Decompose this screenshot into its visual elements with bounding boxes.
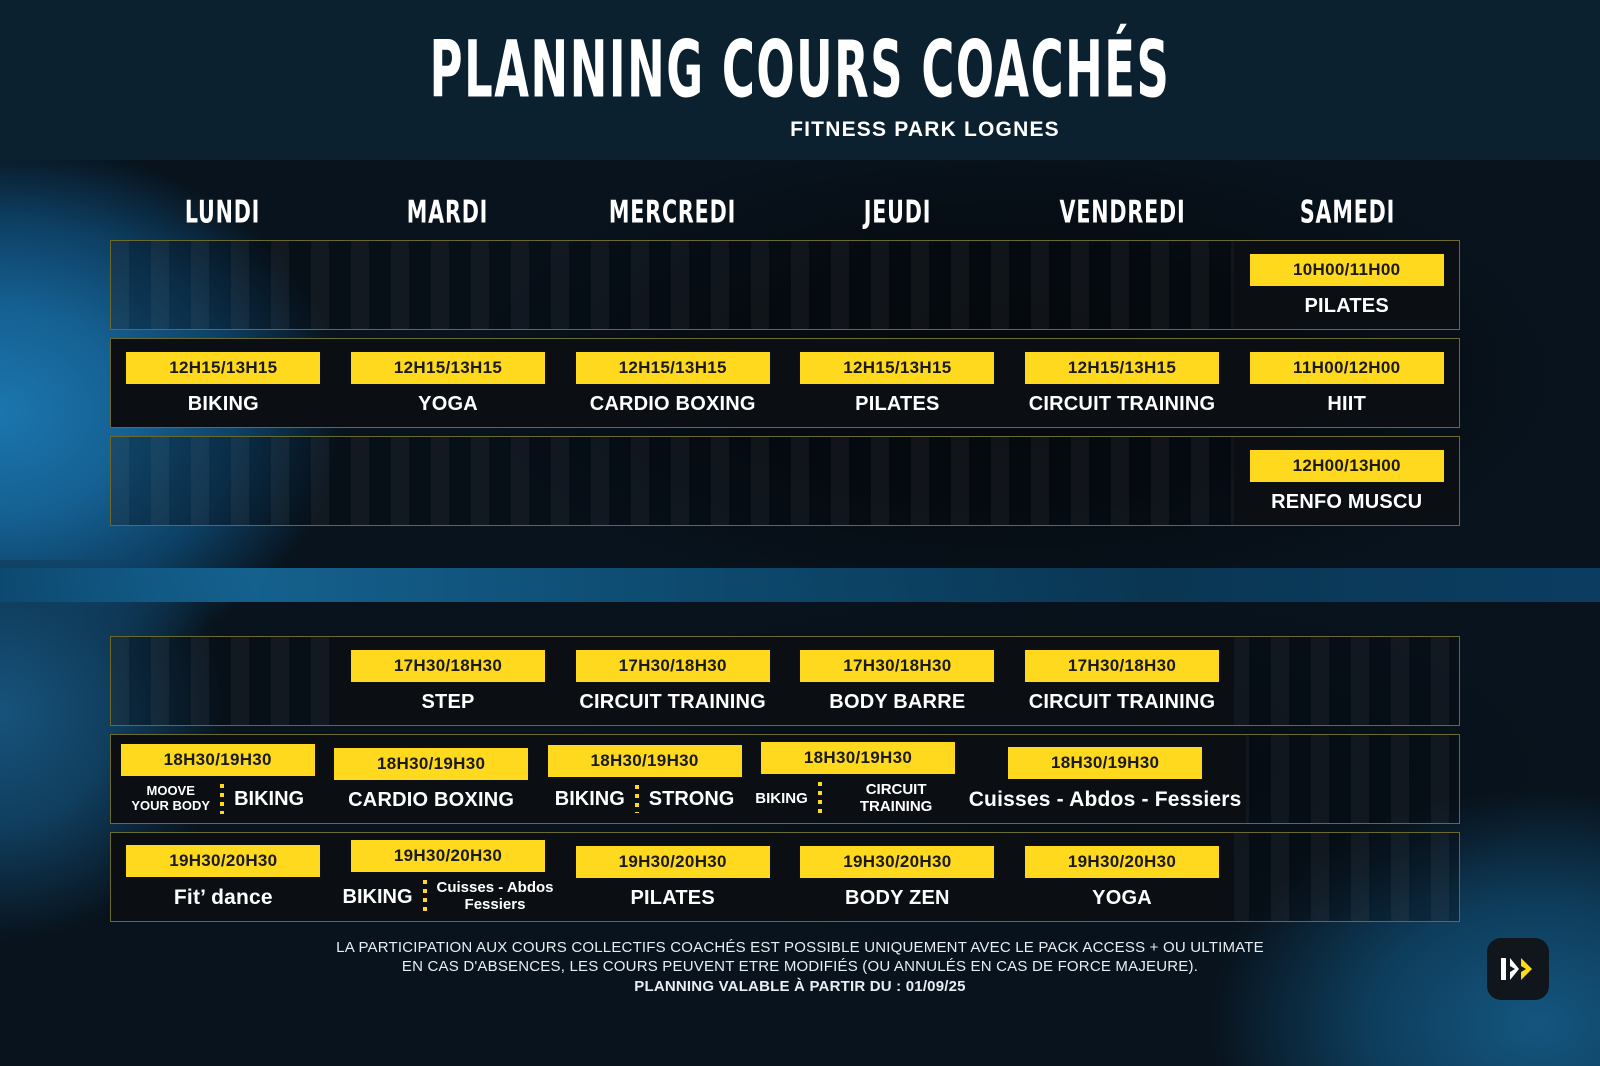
class-name: BODY BARRE: [829, 692, 965, 713]
dotted-divider: [818, 782, 822, 816]
class-name: CARDIO BOXING: [590, 394, 756, 415]
class-name: CIRCUIT TRAINING: [1029, 394, 1216, 415]
day-header-jeudi: JEUDI: [805, 193, 990, 240]
class-name: HIIT: [1327, 394, 1366, 415]
dotted-divider: [635, 785, 639, 813]
class-name: STEP: [421, 692, 474, 713]
schedule-cell-class[interactable]: 12H15/13H15PILATES: [785, 339, 1010, 427]
schedule-grid-evening: 17H30/18H30STEP17H30/18H30CIRCUIT TRAINI…: [110, 636, 1460, 922]
class-time-badge: 18H30/19H30: [548, 745, 742, 777]
schedule-cell-class[interactable]: 17H30/18H30CIRCUIT TRAINING: [1010, 637, 1235, 725]
class-name: RENFO MUSCU: [1271, 492, 1422, 513]
day-header-row: LUNDIMARDIMERCREDIJEUDIVENDREDISAMEDI: [110, 196, 1460, 238]
schedule-cell-class[interactable]: 17H30/18H30STEP: [336, 637, 561, 725]
schedule-cell-class[interactable]: 18H30/19H30Cuisses - Abdos - Fessiers: [965, 735, 1246, 823]
class-name: PILATES: [1305, 296, 1389, 317]
fitness-park-logo: [1487, 938, 1549, 1000]
class-name-left: BIKING: [343, 886, 413, 908]
class-time-badge: 18H30/19H30: [761, 742, 955, 774]
schedule-cell-empty: [1246, 735, 1459, 823]
schedule-cell-empty: [785, 437, 1010, 525]
schedule-cell-empty: [560, 241, 785, 329]
schedule-grid-morning: 10H00/11H00PILATES12H15/13H15BIKING12H15…: [110, 240, 1460, 526]
class-time-badge: 12H00/13H00: [1250, 450, 1444, 482]
class-name: BIKING: [188, 394, 259, 415]
day-header-lundi: LUNDI: [130, 193, 315, 240]
schedule-cell-class[interactable]: 19H30/20H30YOGA: [1010, 833, 1235, 921]
schedule-row: 18H30/19H30MOOVEYOUR BODYBIKING18H30/19H…: [110, 734, 1460, 824]
class-time-badge: 12H15/13H15: [1025, 352, 1219, 384]
class-name: CARDIO BOXING: [348, 790, 514, 811]
schedule-cell-empty: [1234, 833, 1459, 921]
schedule-cell-empty: [111, 437, 336, 525]
schedule-cell-empty: [560, 437, 785, 525]
dotted-divider: [220, 784, 224, 813]
schedule-cell-class[interactable]: 17H30/18H30BODY BARRE: [785, 637, 1010, 725]
class-time-badge: 12H15/13H15: [126, 352, 320, 384]
class-time-badge: 18H30/19H30: [334, 748, 528, 780]
schedule-cell-class[interactable]: 18H30/19H30BIKINGSTRONG: [538, 735, 751, 823]
class-name: CIRCUIT TRAINING: [579, 692, 766, 713]
schedule-cell-class[interactable]: 11H00/12H00HIIT: [1234, 339, 1459, 427]
class-name-left: MOOVEYOUR BODY: [131, 784, 210, 813]
schedule-cell-class[interactable]: 12H15/13H15YOGA: [336, 339, 561, 427]
schedule-cell-empty: [785, 241, 1010, 329]
class-time-badge: 11H00/12H00: [1250, 352, 1444, 384]
schedule-cell-class[interactable]: 19H30/20H30Fit’ dance: [111, 833, 336, 921]
dotted-divider: [423, 880, 427, 914]
schedule-cell-class[interactable]: 18H30/19H30MOOVEYOUR BODYBIKING: [111, 735, 324, 823]
schedule-cell-empty: [336, 437, 561, 525]
class-name-right: Cuisses - AbdosFessiers: [437, 880, 554, 914]
page-header: PLANNING COURS COACHÉS FITNESS PARK LOGN…: [0, 0, 1600, 160]
class-split-names: BIKINGCuisses - AbdosFessiers: [340, 880, 557, 914]
class-time-badge: 19H30/20H30: [800, 846, 994, 878]
schedule-cell-empty: [336, 241, 561, 329]
class-name: CIRCUIT TRAINING: [1029, 692, 1216, 713]
footer-line-2: EN CAS D'ABSENCES, LES COURS PEUVENT ETR…: [0, 957, 1600, 976]
schedule-cell-class[interactable]: 18H30/19H30BIKINGCIRCUIT TRAINING: [751, 735, 964, 823]
schedule-cell-class[interactable]: 12H15/13H15BIKING: [111, 339, 336, 427]
class-time-badge: 19H30/20H30: [576, 846, 770, 878]
day-header-vendredi: VENDREDI: [1030, 193, 1215, 240]
footer-notes: LA PARTICIPATION AUX COURS COLLECTIFS CO…: [0, 938, 1600, 998]
class-name-left: BIKING: [755, 791, 808, 808]
class-name: BODY ZEN: [845, 888, 950, 909]
class-name: PILATES: [855, 394, 939, 415]
class-name-left: BIKING: [555, 788, 625, 810]
class-time-badge: 17H30/18H30: [800, 650, 994, 682]
class-time-badge: 10H00/11H00: [1250, 254, 1444, 286]
day-header-mardi: MARDI: [355, 193, 540, 240]
class-time-badge: 17H30/18H30: [576, 650, 770, 682]
schedule-cell-empty: [111, 241, 336, 329]
class-time-badge: 12H15/13H15: [800, 352, 994, 384]
schedule-cell-class[interactable]: 12H15/13H15CIRCUIT TRAINING: [1010, 339, 1235, 427]
schedule-cell-class[interactable]: 17H30/18H30CIRCUIT TRAINING: [560, 637, 785, 725]
schedule-row: 12H00/13H00RENFO MUSCU: [110, 436, 1460, 526]
class-name-right: CIRCUIT TRAINING: [832, 782, 961, 816]
class-name: Fit’ dance: [174, 887, 273, 909]
class-split-names: BIKINGSTRONG: [542, 785, 747, 813]
schedule-cell-class[interactable]: 12H15/13H15CARDIO BOXING: [560, 339, 785, 427]
schedule-cell-class[interactable]: 18H30/19H30CARDIO BOXING: [324, 735, 537, 823]
class-time-badge: 18H30/19H30: [121, 744, 315, 776]
class-time-badge: 19H30/20H30: [351, 840, 545, 872]
schedule-row: 10H00/11H00PILATES: [110, 240, 1460, 330]
class-name-right: STRONG: [649, 788, 735, 810]
schedule-cell-class[interactable]: 19H30/20H30PILATES: [560, 833, 785, 921]
footer-line-3: PLANNING VALABLE À PARTIR DU : 01/09/25: [0, 976, 1600, 998]
day-header-samedi: SAMEDI: [1255, 193, 1440, 240]
schedule-row: 12H15/13H15BIKING12H15/13H15YOGA12H15/13…: [110, 338, 1460, 428]
class-time-badge: 17H30/18H30: [351, 650, 545, 682]
schedule-cell-class[interactable]: 19H30/20H30BIKINGCuisses - AbdosFessiers: [336, 833, 561, 921]
schedule-row: 19H30/20H30Fit’ dance19H30/20H30BIKINGCu…: [110, 832, 1460, 922]
schedule-cell-empty: [1010, 437, 1235, 525]
class-split-names: BIKINGCIRCUIT TRAINING: [755, 782, 960, 816]
logo-chevrons-icon: [1498, 953, 1538, 985]
schedule-cell-class[interactable]: 12H00/13H00RENFO MUSCU: [1234, 437, 1459, 525]
schedule-cell-empty: [1234, 637, 1459, 725]
page-title: PLANNING COURS COACHÉS: [176, 32, 1424, 110]
footer-line-1: LA PARTICIPATION AUX COURS COLLECTIFS CO…: [0, 938, 1600, 957]
class-name: YOGA: [1092, 888, 1152, 909]
day-header-mercredi: MERCREDI: [580, 193, 765, 240]
class-time-badge: 18H30/19H30: [1008, 747, 1202, 779]
class-time-badge: 12H15/13H15: [576, 352, 770, 384]
class-split-names: MOOVEYOUR BODYBIKING: [115, 784, 320, 813]
class-name: PILATES: [630, 888, 714, 909]
class-name: YOGA: [418, 394, 478, 415]
schedule-cell-empty: [1010, 241, 1235, 329]
schedule-cell-class[interactable]: 10H00/11H00PILATES: [1234, 241, 1459, 329]
class-time-badge: 19H30/20H30: [1025, 846, 1219, 878]
class-name: Cuisses - Abdos - Fessiers: [969, 789, 1242, 811]
schedule-row: 17H30/18H30STEP17H30/18H30CIRCUIT TRAINI…: [110, 636, 1460, 726]
class-name-right: BIKING: [234, 788, 304, 810]
schedule-cell-class[interactable]: 19H30/20H30BODY ZEN: [785, 833, 1010, 921]
page-subtitle: FITNESS PARK LOGNES: [0, 118, 1600, 142]
class-time-badge: 17H30/18H30: [1025, 650, 1219, 682]
class-time-badge: 19H30/20H30: [126, 845, 320, 877]
class-time-badge: 12H15/13H15: [351, 352, 545, 384]
background-divider-band: [0, 568, 1600, 602]
schedule-cell-empty: [111, 637, 336, 725]
